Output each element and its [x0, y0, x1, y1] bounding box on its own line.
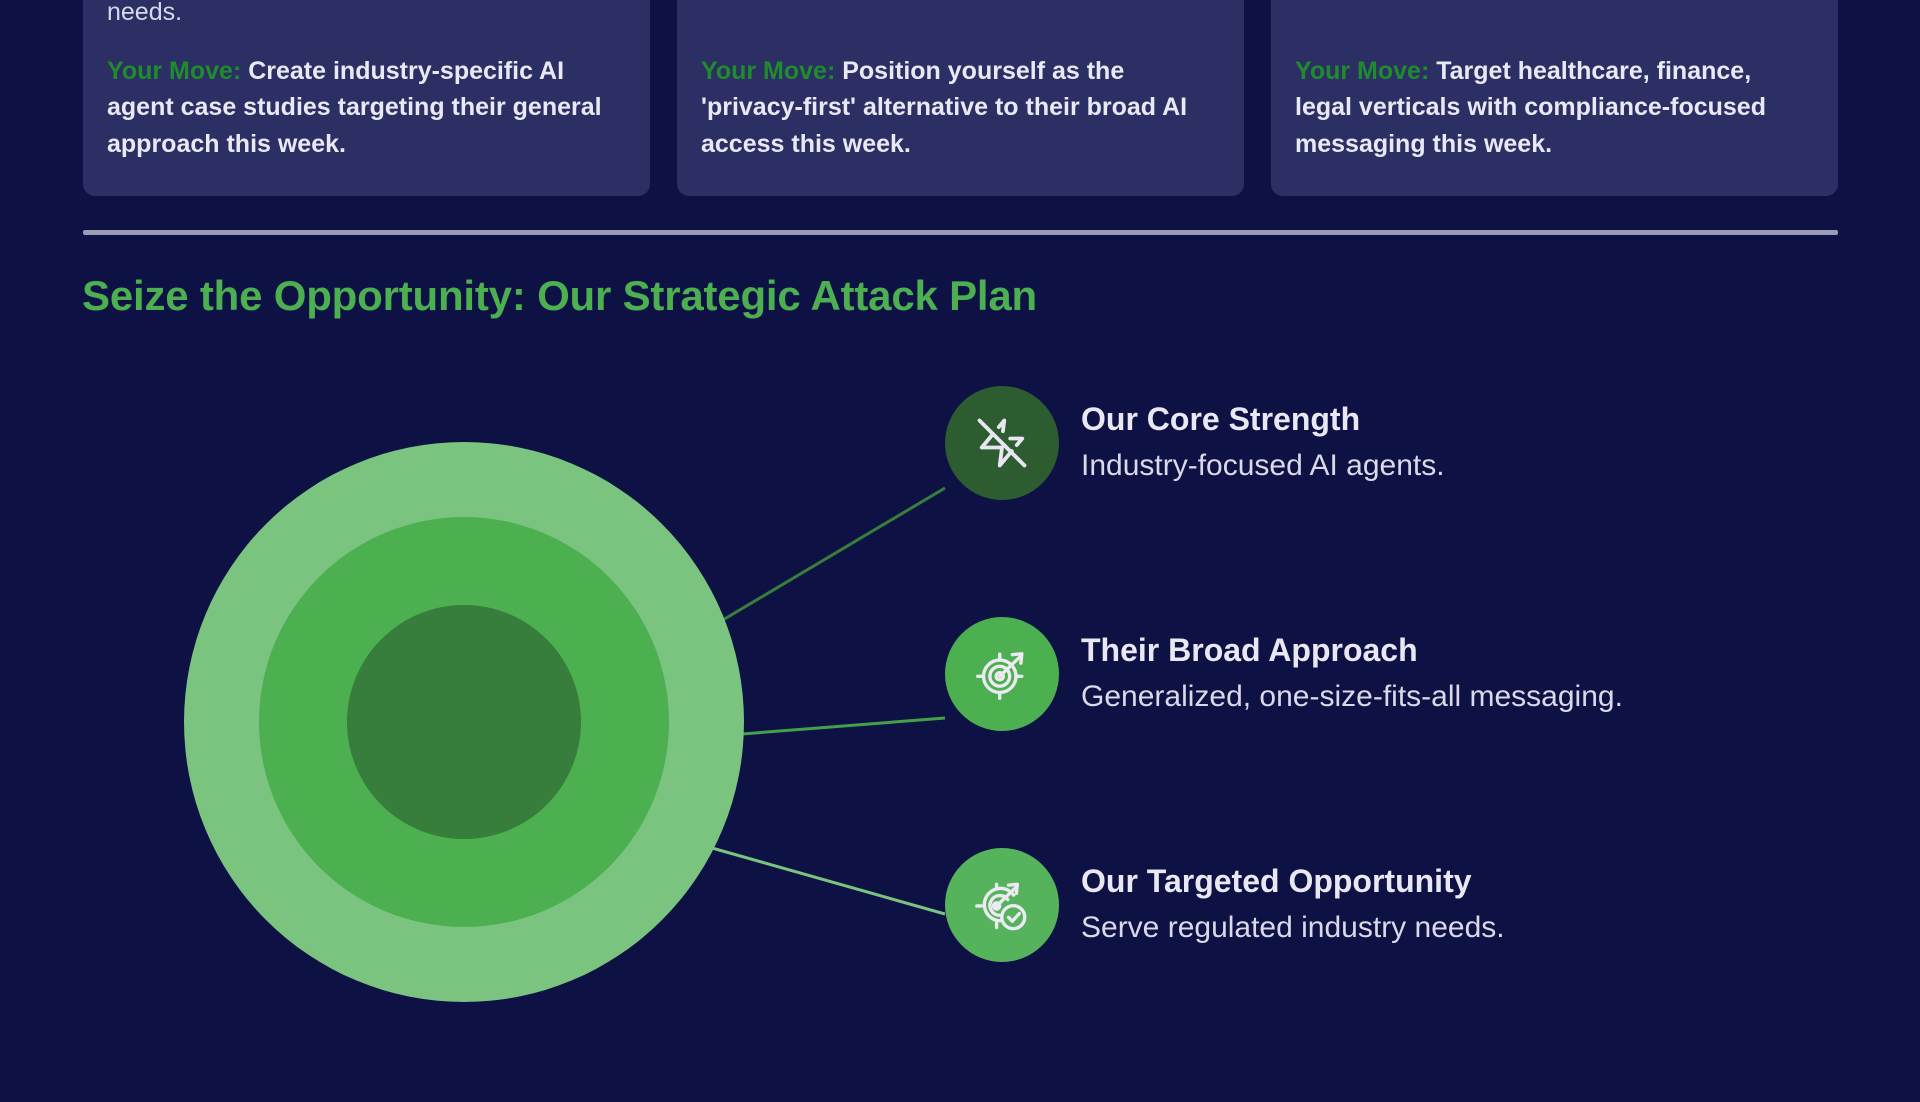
your-move-cards-row: needs. Your Move: Create industry-specif…: [83, 0, 1838, 196]
zap-off-icon: [945, 386, 1059, 500]
page-root: needs. Your Move: Create industry-specif…: [0, 0, 1920, 1102]
node-description: Generalized, one-size-fits-all messaging…: [1081, 679, 1623, 715]
diagram-node-targeted-opportunity[interactable]: Our Targeted Opportunity Serve regulated…: [945, 848, 1505, 962]
card-move-text: Your Move: Position yourself as the 'pri…: [701, 53, 1220, 163]
target-arrow-icon: [945, 617, 1059, 731]
page-title: Seize the Opportunity: Our Strategic Att…: [82, 272, 1037, 320]
target-check-icon: [945, 848, 1059, 962]
card-move-text: Your Move: Create industry-specific AI a…: [107, 53, 626, 163]
diagram-node-broad-approach[interactable]: Their Broad Approach Generalized, one-si…: [945, 617, 1623, 731]
node-text-block: Our Targeted Opportunity Serve regulated…: [1081, 862, 1505, 948]
card-move-text: Your Move: Target healthcare, finance, l…: [1295, 53, 1814, 163]
your-move-card: Your Move: Target healthcare, finance, l…: [1271, 0, 1838, 196]
node-title: Our Targeted Opportunity: [1081, 862, 1505, 900]
card-body-text: needs.: [107, 0, 626, 31]
section-divider: [83, 230, 1838, 235]
your-move-card: needs. Your Move: Create industry-specif…: [83, 0, 650, 196]
your-move-label: Your Move:: [107, 57, 241, 85]
node-description: Serve regulated industry needs.: [1081, 910, 1505, 946]
strategy-diagram: Our Core Strength Industry-focused AI ag…: [0, 330, 1920, 1100]
node-description: Industry-focused AI agents.: [1081, 448, 1445, 484]
node-title: Our Core Strength: [1081, 400, 1445, 438]
node-title: Their Broad Approach: [1081, 631, 1623, 669]
node-text-block: Our Core Strength Industry-focused AI ag…: [1081, 400, 1445, 486]
node-text-block: Their Broad Approach Generalized, one-si…: [1081, 631, 1623, 717]
diagram-node-list: Our Core Strength Industry-focused AI ag…: [0, 330, 1920, 1100]
your-move-label: Your Move:: [1295, 57, 1429, 85]
your-move-card: Your Move: Position yourself as the 'pri…: [677, 0, 1244, 196]
your-move-label: Your Move:: [701, 57, 835, 85]
diagram-node-core-strength[interactable]: Our Core Strength Industry-focused AI ag…: [945, 386, 1445, 500]
